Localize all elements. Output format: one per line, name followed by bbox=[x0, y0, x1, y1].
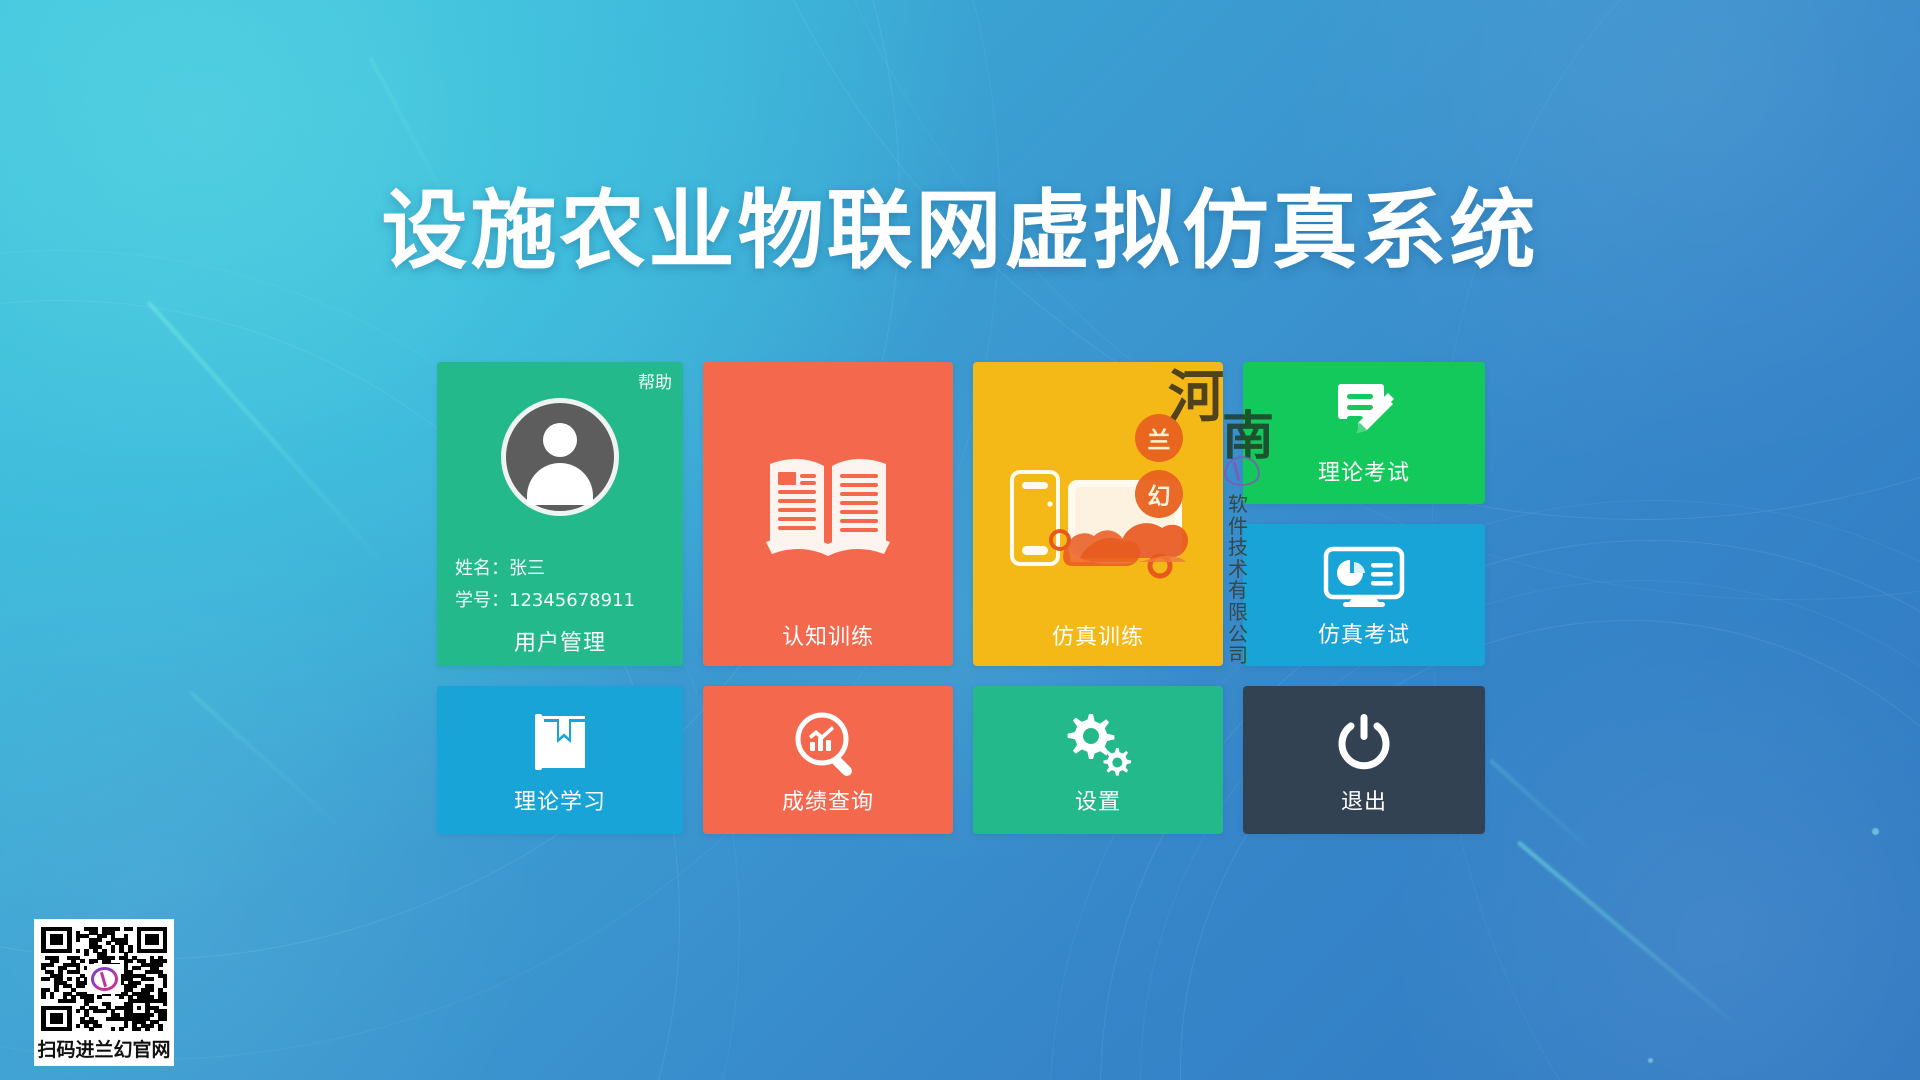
document-pencil-icon bbox=[1329, 378, 1399, 448]
help-link[interactable]: 帮助 bbox=[638, 368, 672, 393]
tile-label-score-query: 成绩查询 bbox=[703, 784, 953, 816]
qr-code-caption: 扫码进兰幻官网 bbox=[34, 1034, 174, 1066]
tile-label-cognitive-training: 认知训练 bbox=[703, 619, 953, 651]
lanhuan-logo-icon bbox=[87, 964, 121, 994]
tile-theory-learning[interactable]: 理论学习 bbox=[437, 686, 683, 834]
tile-settings[interactable]: 设置 bbox=[973, 686, 1223, 834]
avatar-head-shape bbox=[543, 423, 577, 457]
tile-theory-exam[interactable]: 理论考试 bbox=[1243, 362, 1485, 504]
qr-code-block[interactable]: 扫码进兰幻官网 bbox=[34, 919, 174, 1066]
magnifier-chart-icon bbox=[793, 710, 863, 778]
background-dot bbox=[1648, 1058, 1653, 1063]
book-bookmark-icon bbox=[529, 710, 591, 774]
avatar bbox=[501, 398, 619, 516]
tile-label-theory-exam: 理论考试 bbox=[1243, 455, 1485, 487]
tile-label-settings: 设置 bbox=[973, 784, 1223, 816]
avatar-body-shape bbox=[527, 463, 593, 505]
lanhuan-logo-ring bbox=[91, 967, 118, 991]
tile-user-management[interactable]: 帮助 姓名：张三 学号：12345678911 用户管理 bbox=[437, 362, 683, 666]
qr-code-image bbox=[41, 927, 167, 1031]
gears-icon bbox=[1061, 712, 1135, 776]
open-book-icon bbox=[764, 450, 892, 560]
tile-label-user-management: 用户管理 bbox=[437, 625, 683, 657]
tile-label-simulation-training: 仿真训练 bbox=[973, 619, 1223, 651]
phone-monitor-cloud-icon bbox=[1008, 462, 1188, 592]
power-icon bbox=[1333, 712, 1395, 774]
tile-label-exit: 退出 bbox=[1243, 784, 1485, 816]
monitor-chart-icon bbox=[1323, 546, 1405, 608]
tile-label-simulation-exam: 仿真考试 bbox=[1243, 617, 1485, 649]
qr-code-panel bbox=[34, 919, 174, 1034]
user-id-text: 学号：12345678911 bbox=[455, 586, 635, 612]
tile-simulation-exam[interactable]: 仿真考试 bbox=[1243, 524, 1485, 666]
user-name-text: 姓名：张三 bbox=[455, 554, 545, 580]
tile-score-query[interactable]: 成绩查询 bbox=[703, 686, 953, 834]
tile-exit[interactable]: 退出 bbox=[1243, 686, 1485, 834]
tile-simulation-training[interactable]: 仿真训练 bbox=[973, 362, 1223, 666]
menu-grid: 帮助 姓名：张三 学号：12345678911 用户管理 bbox=[437, 362, 1485, 834]
tile-label-theory-learning: 理论学习 bbox=[437, 784, 683, 816]
tile-cognitive-training[interactable]: 认知训练 bbox=[703, 362, 953, 666]
page-title: 设施农业物联网虚拟仿真系统 bbox=[0, 183, 1920, 279]
background-dot bbox=[1872, 828, 1879, 835]
